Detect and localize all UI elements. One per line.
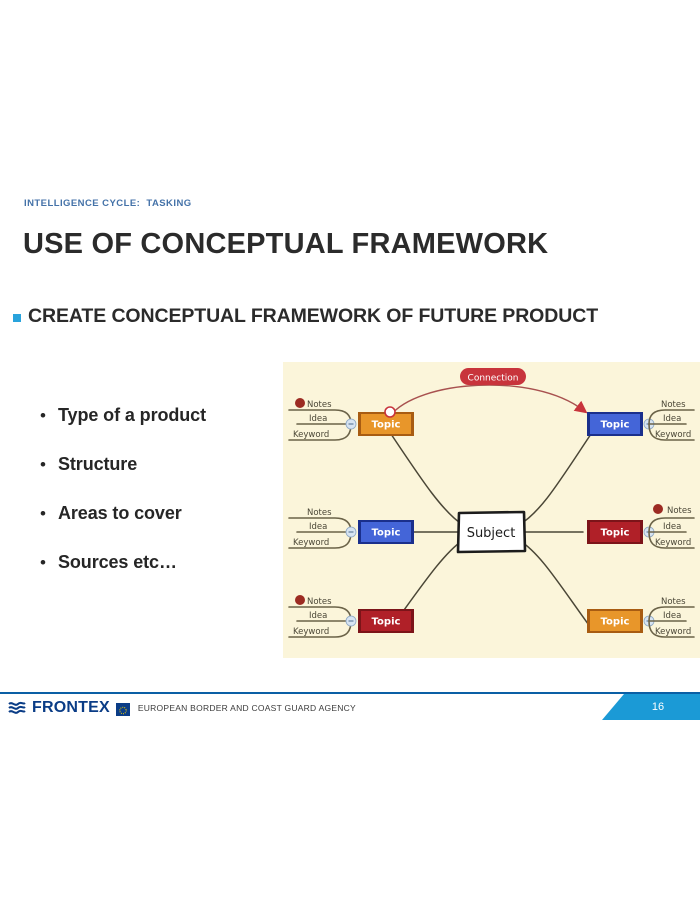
slide-eyebrow: INTELLIGENCE CYCLE: TASKING <box>24 198 192 209</box>
idea-label: Idea <box>309 611 327 621</box>
subheading-label: CREATE CONCEPTUAL FRAMEWORK OF FUTURE PR… <box>28 305 598 328</box>
connection-anchor-icon[interactable] <box>385 407 395 417</box>
page-number-badge: 16 <box>602 694 700 720</box>
center-subject-label: Subject <box>467 526 516 541</box>
square-bullet-icon <box>13 314 21 322</box>
mindmap-center-subject: Subject <box>458 512 525 552</box>
notes-label: Notes <box>661 400 686 410</box>
notes-dot-icon <box>653 504 663 514</box>
notes-dot-icon <box>295 398 305 408</box>
keyword-label: Keyword <box>293 538 329 548</box>
notes-label: Notes <box>661 597 686 607</box>
topic-label: Topic <box>601 528 630 539</box>
notes-label: Notes <box>307 400 332 410</box>
mindmap-illustration: .hand { font-family: "DejaVu Sans", sans… <box>283 362 700 658</box>
subheading-row: CREATE CONCEPTUAL FRAMEWORK OF FUTURE PR… <box>13 305 598 328</box>
keyword-label: Keyword <box>293 430 329 440</box>
topic-label: Topic <box>372 420 401 431</box>
bullet-dot-icon: • <box>40 407 58 424</box>
topic-label: Topic <box>601 617 630 628</box>
connection-label: Connection <box>460 368 526 385</box>
topic-label: Topic <box>372 528 401 539</box>
list-item: • Areas to cover <box>40 503 280 552</box>
idea-label: Idea <box>663 611 681 621</box>
bullet-dot-icon: • <box>40 456 58 473</box>
topic-label: Topic <box>372 617 401 628</box>
frontex-wave-logo-icon <box>8 700 26 716</box>
page-title: USE OF CONCEPTUAL FRAMEWORK <box>23 228 548 261</box>
slide-canvas: INTELLIGENCE CYCLE: TASKING USE OF CONCE… <box>0 0 700 724</box>
connection-label-text: Connection <box>468 374 519 384</box>
idea-label: Idea <box>309 414 327 424</box>
list-item: • Type of a product <box>40 405 280 454</box>
list-item: • Structure <box>40 454 280 503</box>
keyword-label: Keyword <box>655 538 691 548</box>
list-item: • Sources etc… <box>40 552 280 601</box>
idea-label: Idea <box>309 522 327 532</box>
footer-brand-group: FRONTEX EUROPEAN BORDER AND COAST GUARD … <box>8 699 356 717</box>
footer-agency-label: EUROPEAN BORDER AND COAST GUARD AGENCY <box>136 703 356 713</box>
notes-label: Notes <box>307 508 332 518</box>
list-item-label: Type of a product <box>58 405 206 426</box>
keyword-label: Keyword <box>293 627 329 637</box>
eu-flag-icon <box>116 703 130 714</box>
bullet-list: • Type of a product • Structure • Areas … <box>40 405 280 601</box>
idea-label: Idea <box>663 414 681 424</box>
bullet-dot-icon: • <box>40 505 58 522</box>
notes-label: Notes <box>307 597 332 607</box>
topic-label: Topic <box>601 420 630 431</box>
idea-label: Idea <box>663 522 681 532</box>
frontex-brand-label: FRONTEX <box>32 699 110 717</box>
slide-footer: FRONTEX EUROPEAN BORDER AND COAST GUARD … <box>0 692 700 726</box>
keyword-label: Keyword <box>655 627 691 637</box>
bullet-dot-icon: • <box>40 554 58 571</box>
keyword-label: Keyword <box>655 430 691 440</box>
notes-dot-icon <box>295 595 305 605</box>
list-item-label: Sources etc… <box>58 552 177 573</box>
list-item-label: Structure <box>58 454 137 475</box>
notes-label: Notes <box>667 506 692 516</box>
list-item-label: Areas to cover <box>58 503 182 524</box>
